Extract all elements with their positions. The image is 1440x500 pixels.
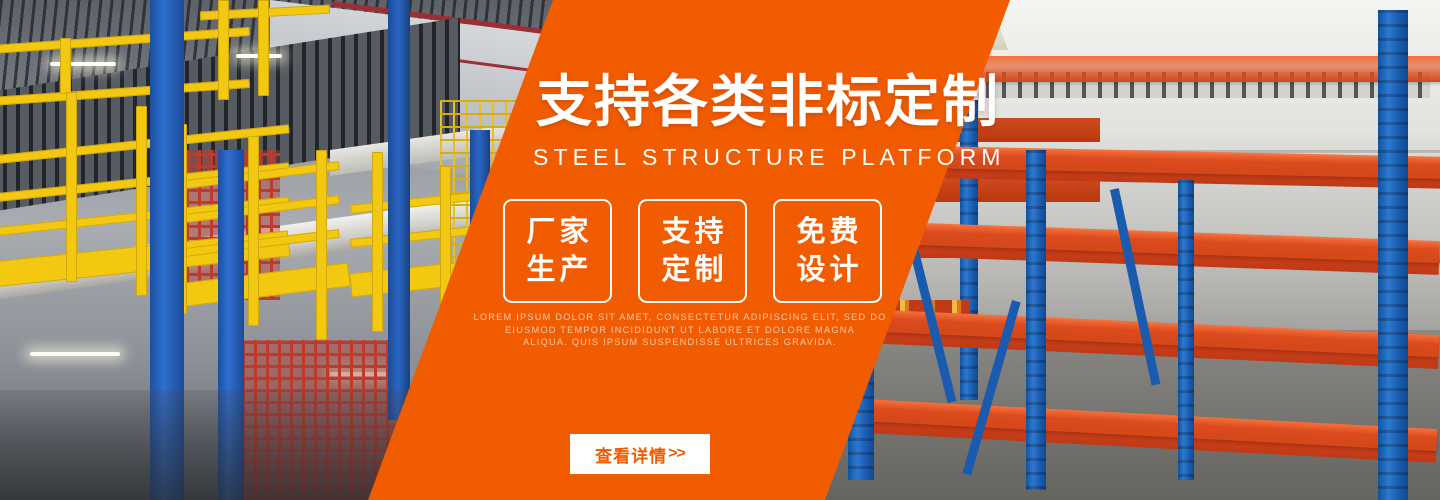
badge-line-2: 设计 <box>792 251 862 289</box>
badge-free-design[interactable]: 免费 设计 <box>773 199 882 303</box>
subtitle: STEEL STRUCTURE PLATFORM <box>533 144 1006 171</box>
page-title: 支持各类非标定制 <box>536 74 1000 130</box>
view-details-button[interactable]: 查看详情 >> <box>570 434 710 474</box>
lorem-description: LOREM IPSUM DOLOR SIT AMET, CONSECTETUR … <box>440 311 920 349</box>
lorem-line-2: EIUSMOD TEMPOR INCIDIDUNT UT LABORE ET D… <box>440 324 920 337</box>
badge-line-1: 支持 <box>657 213 727 251</box>
badge-line-1: 厂家 <box>522 213 592 251</box>
lorem-line-3: ALIQUA. QUIS IPSUM SUSPENDISSE ULTRICES … <box>440 336 920 349</box>
badge-supports-customization[interactable]: 支持 定制 <box>638 199 747 303</box>
banner-content: 支持各类非标定制 STEEL STRUCTURE PLATFORM 厂家 生产 … <box>0 0 1440 500</box>
badge-line-2: 定制 <box>657 251 727 289</box>
lorem-line-1: LOREM IPSUM DOLOR SIT AMET, CONSECTETUR … <box>440 311 920 324</box>
badge-manufacturer-production[interactable]: 厂家 生产 <box>503 199 612 303</box>
view-details-label: 查看详情 <box>595 442 667 467</box>
badge-line-1: 免费 <box>792 213 862 251</box>
chevron-right-icon: >> <box>668 445 685 463</box>
badge-line-2: 生产 <box>522 251 592 289</box>
promo-banner: 支持各类非标定制 STEEL STRUCTURE PLATFORM 厂家 生产 … <box>0 0 1440 500</box>
feature-badge-group: 厂家 生产 支持 定制 免费 设计 <box>503 199 882 303</box>
